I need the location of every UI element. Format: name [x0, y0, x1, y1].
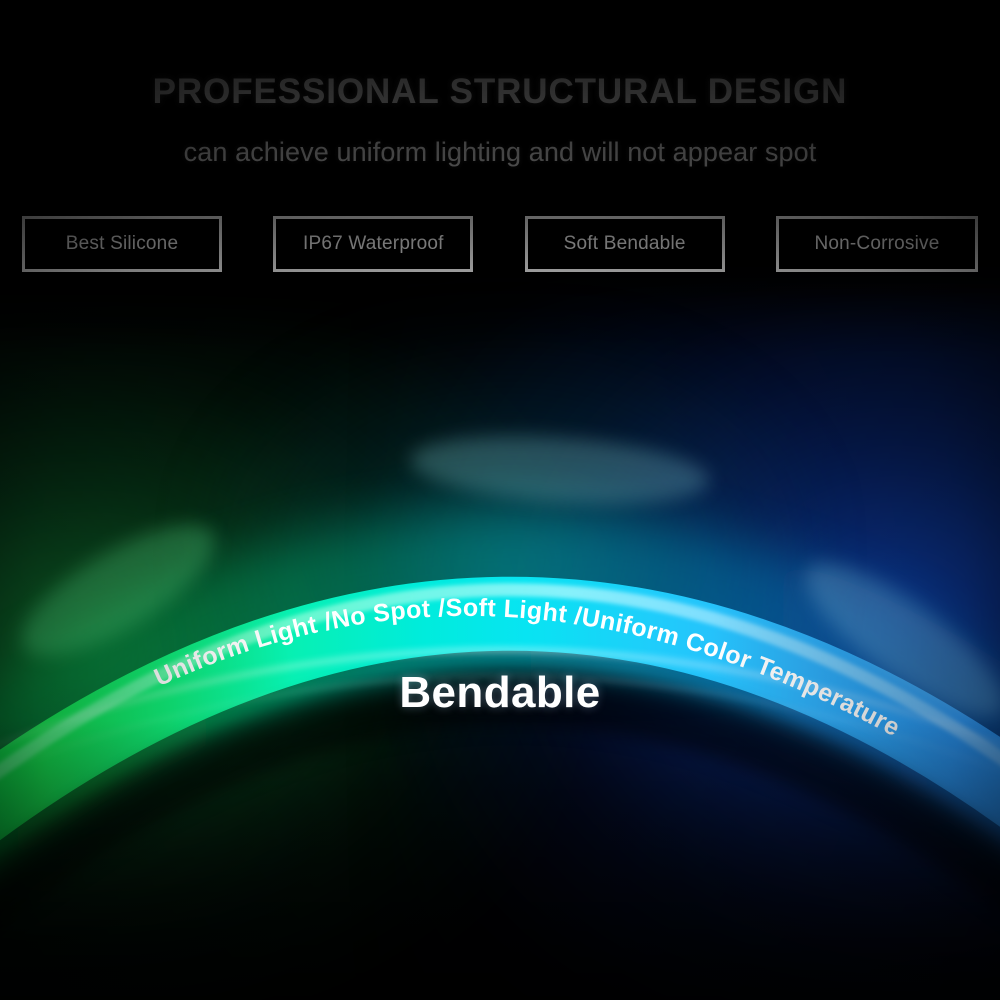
feature-badge-soft-bendable[interactable]: Soft Bendable	[525, 216, 725, 272]
feature-badge-ip67-waterproof[interactable]: IP67 Waterproof	[273, 216, 473, 272]
page-subtitle: can achieve uniform lighting and will no…	[0, 137, 1000, 168]
page-title: PROFESSIONAL STRUCTURAL DESIGN	[0, 72, 1000, 112]
feature-badge-best-silicone[interactable]: Best Silicone	[22, 216, 222, 272]
cyan-ambient-glow	[200, 330, 820, 660]
feature-badges: Best Silicone IP67 Waterproof Soft Benda…	[22, 216, 978, 272]
bendable-label: Bendable	[0, 668, 1000, 718]
product-promo-image: Uniform Light /No Spot /Soft Light /Unif…	[0, 0, 1000, 1000]
feature-badge-non-corrosive[interactable]: Non-Corrosive	[776, 216, 978, 272]
